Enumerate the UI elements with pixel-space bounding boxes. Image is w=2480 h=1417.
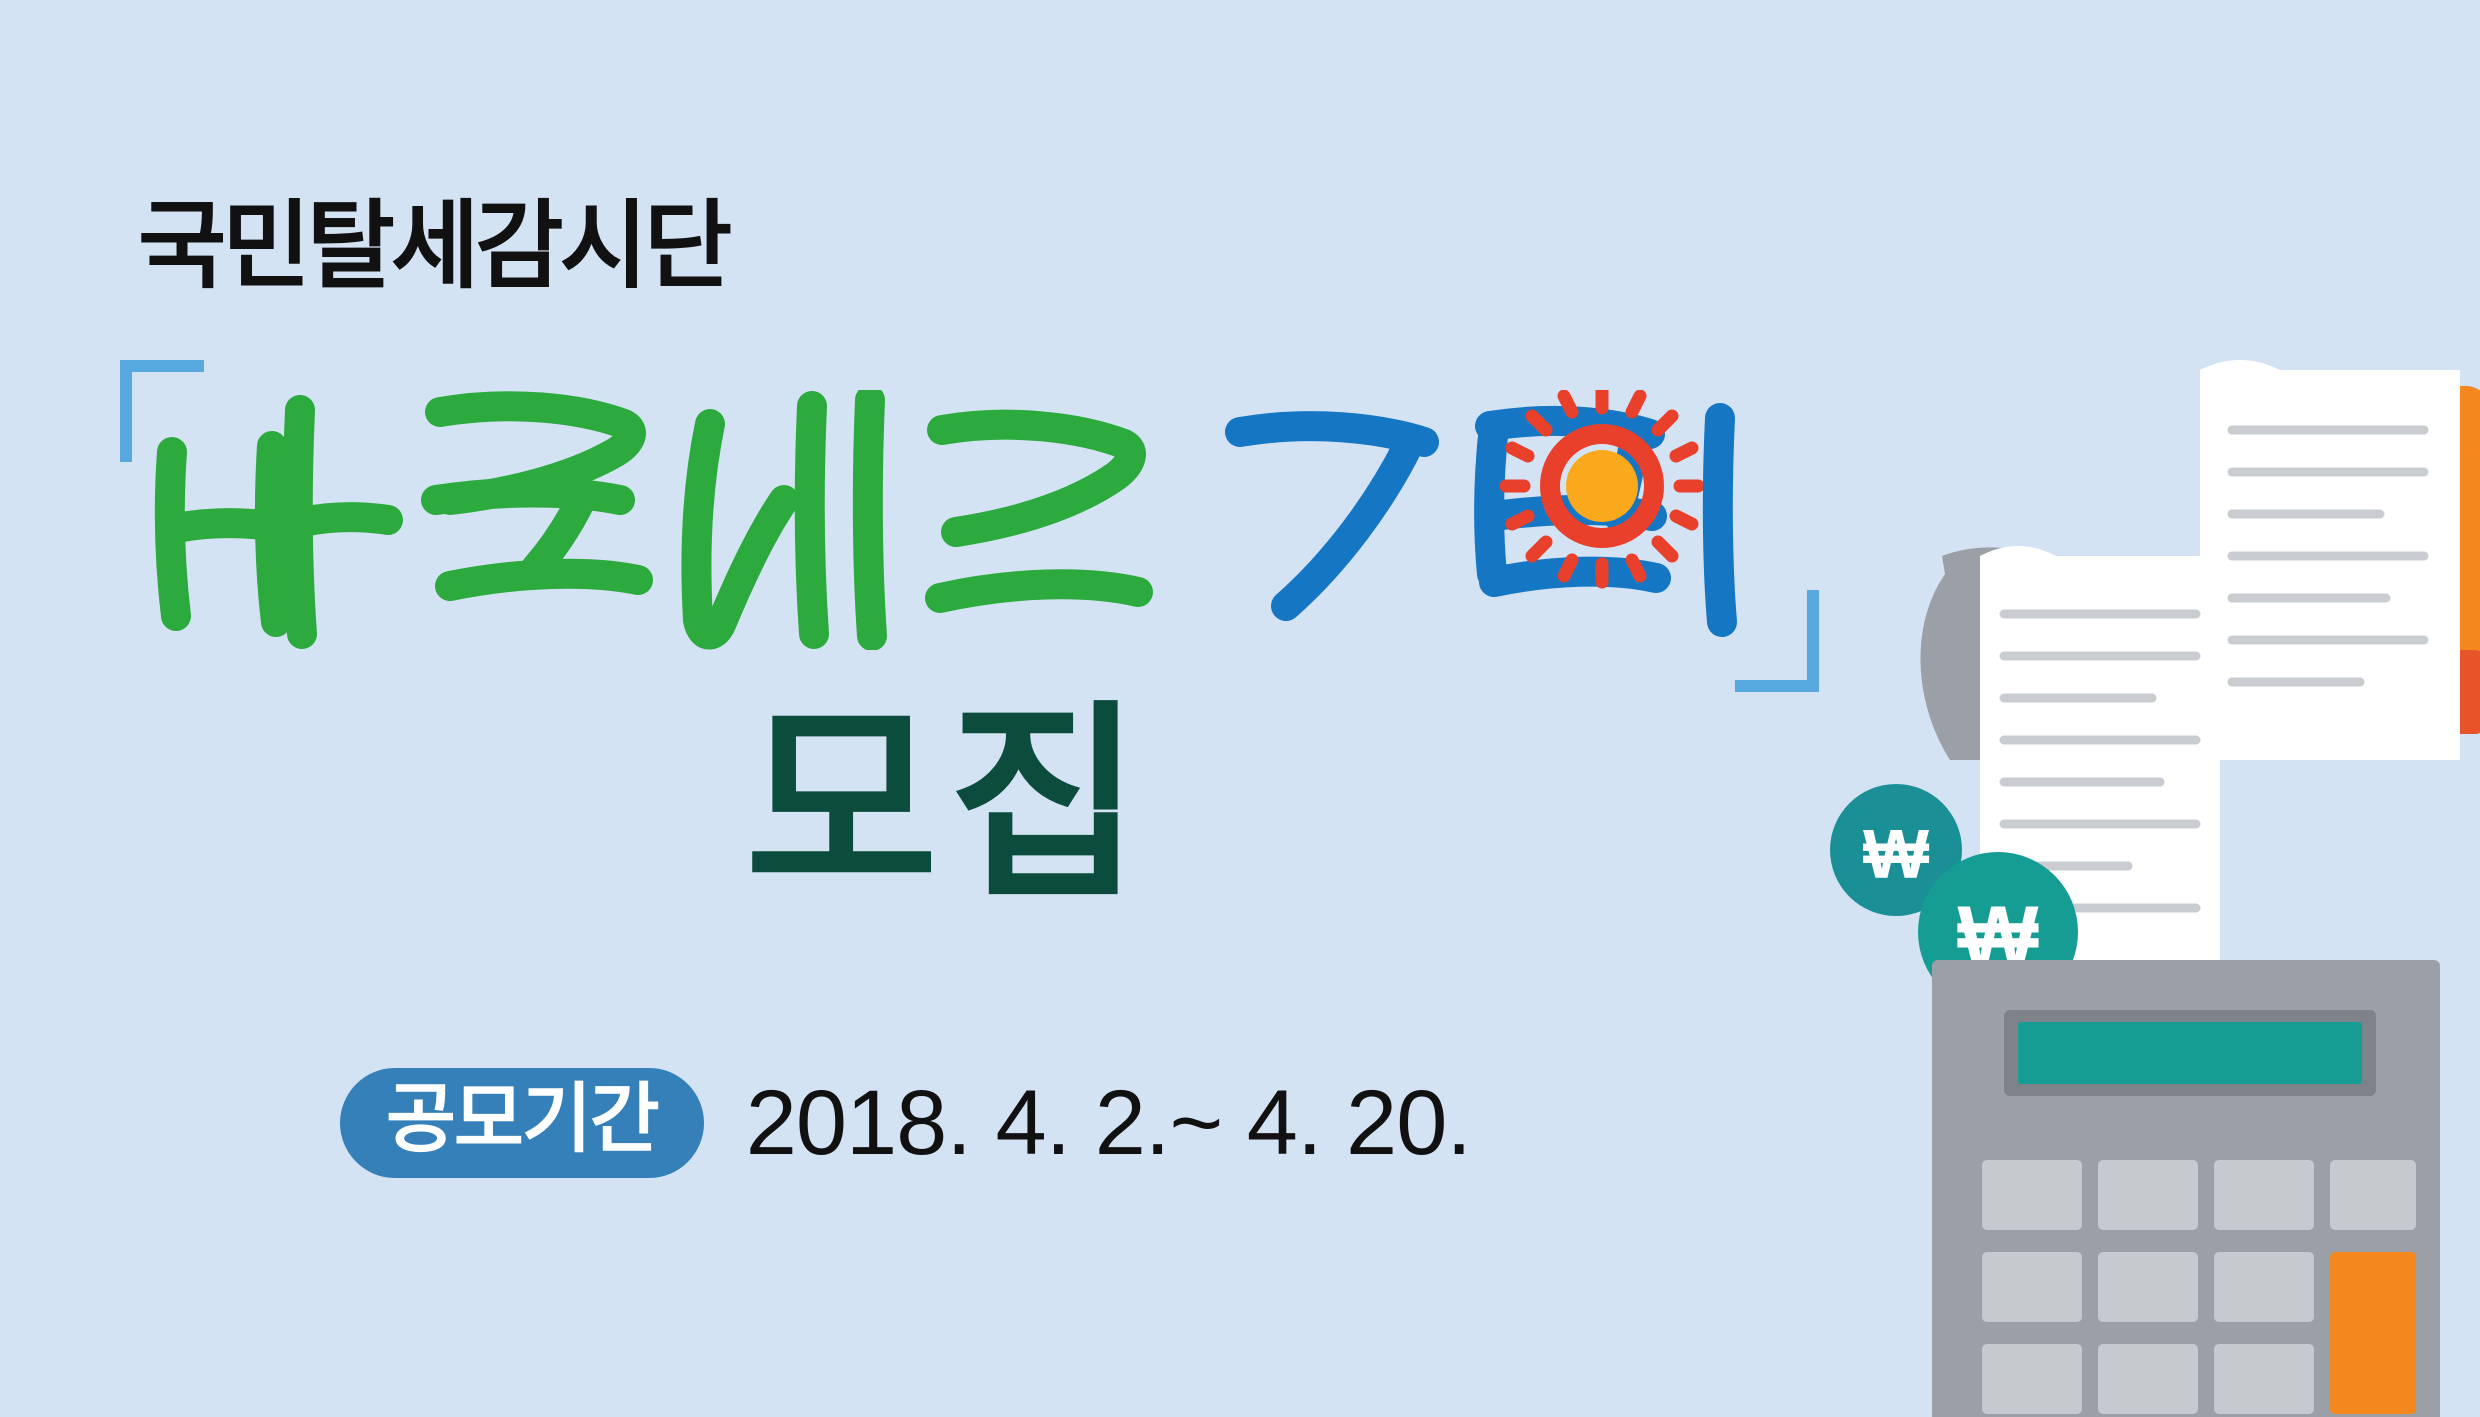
eyebrow-title: 국민탈세감시단: [138, 168, 728, 307]
period-row: 공모기간 2018. 4. 2.~ 4. 20.: [340, 1068, 1471, 1178]
promo-banner: 국민탈세감시단: [0, 0, 2480, 1417]
calculator-display: [2018, 1022, 2362, 1084]
period-badge: 공모기간: [340, 1068, 704, 1178]
calculator-body: [1932, 960, 2440, 1417]
period-date: 2018. 4. 2.~ 4. 20.: [746, 1077, 1471, 1169]
svg-text:₩: ₩: [1863, 815, 1930, 893]
document-sheet: [2200, 360, 2460, 760]
calculator-illustration: ₩ ₩: [1580, 0, 2480, 1417]
slogan-lettering: [150, 390, 1790, 650]
calculator-accent-key: [2330, 1252, 2416, 1414]
recruit-headline: 모집: [745, 700, 1151, 910]
text-block: 국민탈세감시단: [0, 0, 1850, 1417]
